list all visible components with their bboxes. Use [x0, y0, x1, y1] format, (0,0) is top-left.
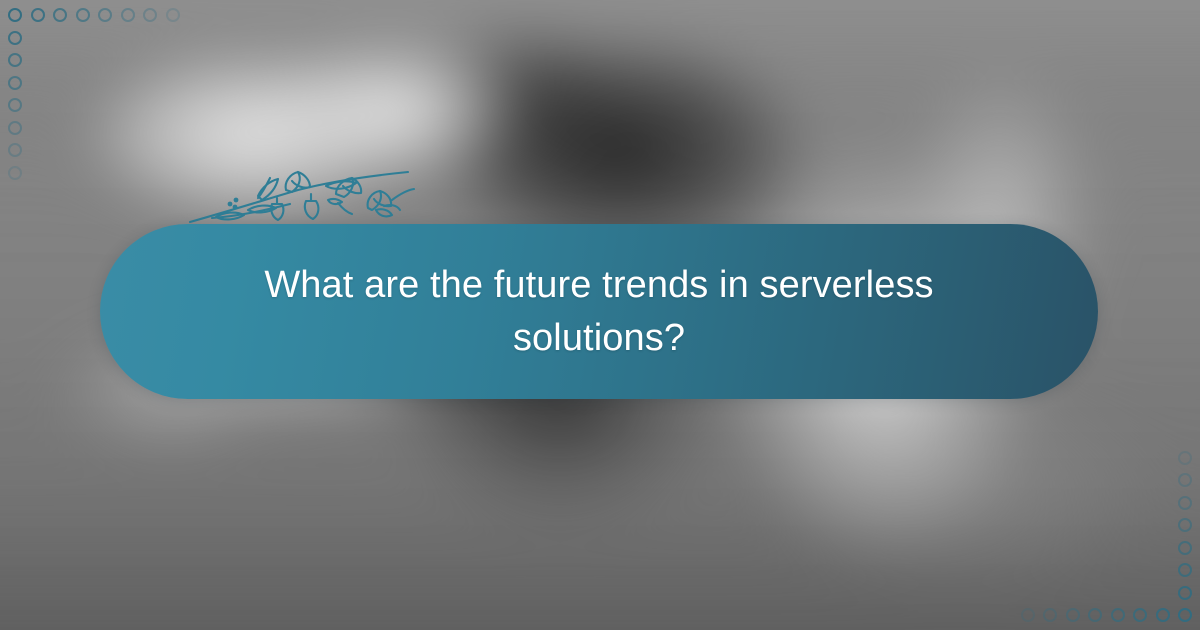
question-card-canvas: What are the future trends in serverless…: [0, 0, 1200, 630]
question-pill: What are the future trends in serverless…: [100, 224, 1098, 399]
question-text: What are the future trends in serverless…: [249, 259, 949, 364]
floral-branch-icon: [186, 160, 416, 232]
